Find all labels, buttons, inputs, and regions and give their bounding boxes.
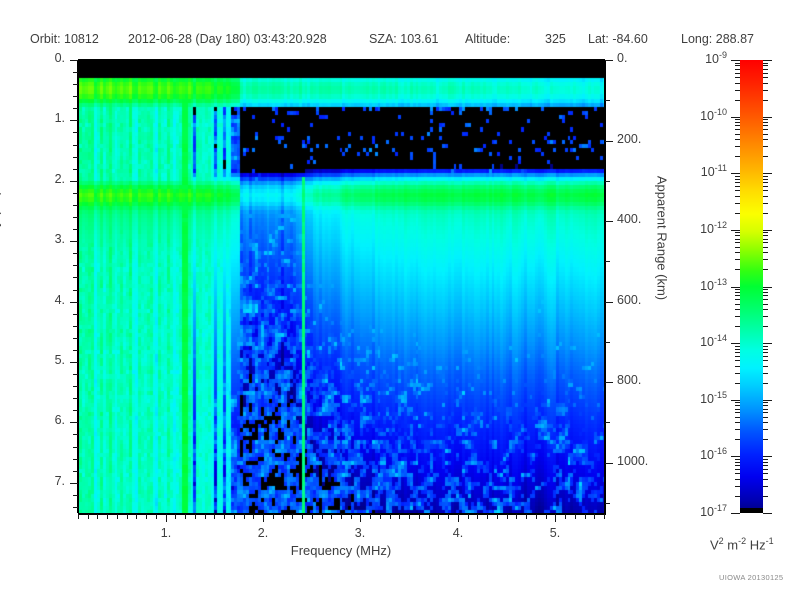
header-orbit: Orbit: 10812	[30, 30, 99, 48]
colorbar-tick-minor-left	[735, 360, 740, 361]
colorbar-tick-minor-right	[763, 65, 768, 66]
header-sza: SZA: 103.61	[369, 30, 439, 48]
colorbar-tick-minor-right	[763, 134, 768, 135]
colorbar-tick-minor-right	[763, 125, 768, 126]
colorbar-tick-minor-right	[763, 356, 768, 357]
colorbar-tick-minor-left	[735, 65, 740, 66]
x-tick-minor	[244, 514, 245, 519]
colorbar-tick-minor-left	[735, 473, 740, 474]
y-tick-minor	[73, 459, 78, 460]
y-tick-major	[70, 483, 78, 484]
y-tick-minor	[73, 290, 78, 291]
header-info-bar: Orbit: 10812 2012-06-28 (Day 180) 03:43:…	[0, 30, 800, 50]
colorbar-tick-major-left	[731, 343, 740, 344]
colorbar-tick-minor-right	[763, 409, 768, 410]
colorbar-tick-minor-right	[763, 439, 768, 440]
colorbar-tick-minor-right	[763, 405, 768, 406]
plot-border-right	[604, 60, 605, 513]
colorbar-tick-minor-right	[763, 473, 768, 474]
credit-watermark: UIOWA 20130125	[719, 573, 783, 582]
y-tick-major	[70, 60, 78, 61]
x-tick-minor	[594, 514, 595, 519]
y2-tick-major	[605, 382, 613, 383]
y2-tick-major	[605, 221, 613, 222]
colorbar-tick-minor-right	[763, 469, 768, 470]
colorbar-tick-major-right	[763, 400, 772, 401]
colorbar-unit-v: V	[710, 537, 719, 552]
x-tick-minor	[575, 514, 576, 519]
y-tick-minor	[73, 96, 78, 97]
y2-tick-major	[605, 302, 613, 303]
colorbar-tick-minor-right	[763, 346, 768, 347]
colorbar-tick-minor-right	[763, 462, 768, 463]
y-tick-major	[70, 120, 78, 121]
colorbar-tick-minor-right	[763, 316, 768, 317]
x-tick-label: 2.	[258, 526, 268, 540]
colorbar-tick-minor-right	[763, 309, 768, 310]
colorbar-tick-minor-left	[735, 259, 740, 260]
colorbar-tick-minor-right	[763, 366, 768, 367]
y-tick-minor	[73, 410, 78, 411]
y-tick-minor	[73, 72, 78, 73]
colorbar-tick-minor-left	[735, 122, 740, 123]
colorbar-tick-minor-left	[735, 429, 740, 430]
x-tick-minor	[341, 514, 342, 519]
y-tick-minor	[73, 434, 78, 435]
x-tick-minor	[351, 514, 352, 519]
colorbar-tick-major-left	[731, 173, 740, 174]
header-altitude-label: Altitude:	[465, 30, 510, 48]
x-tick-minor	[253, 514, 254, 519]
colorbar-tick-minor-right	[763, 203, 768, 204]
x-tick-major	[166, 514, 167, 522]
colorbar-tick-minor-left	[735, 179, 740, 180]
y2-tick-label: 200.	[617, 132, 641, 146]
colorbar-tick-minor-left	[735, 295, 740, 296]
y-tick-minor	[73, 374, 78, 375]
x-tick-label: 5.	[550, 526, 560, 540]
colorbar-tick-minor-right	[763, 196, 768, 197]
colorbar-tick-minor-right	[763, 239, 768, 240]
colorbar-tick-minor-left	[735, 349, 740, 350]
colorbar-tick-minor-left	[735, 232, 740, 233]
colorbar-tick-major-right	[763, 513, 772, 514]
colorbar-floor-swatch	[740, 508, 763, 513]
x-tick-minor	[536, 514, 537, 519]
colorbar-tick-minor-right	[763, 119, 768, 120]
x-tick-minor	[205, 514, 206, 519]
colorbar-tick-minor-right	[763, 247, 768, 248]
colorbar-tick-minor-left	[735, 486, 740, 487]
y-tick-minor	[73, 386, 78, 387]
y-tick-major	[70, 241, 78, 242]
colorbar-tick-minor-right	[763, 412, 768, 413]
x-tick-minor	[526, 514, 527, 519]
y-tick-minor	[73, 471, 78, 472]
y2-tick-major	[605, 463, 613, 464]
colorbar-tick-minor-left	[735, 422, 740, 423]
x-tick-minor	[448, 514, 449, 519]
x-tick-minor	[136, 514, 137, 519]
colorbar-tick-minor-left	[735, 496, 740, 497]
x-tick-minor	[468, 514, 469, 519]
x-tick-minor	[390, 514, 391, 519]
colorbar-tick-minor-right	[763, 156, 768, 157]
colorbar-tick-minor-right	[763, 73, 768, 74]
x-tick-minor	[322, 514, 323, 519]
y-tick-minor	[73, 193, 78, 194]
y2-tick-major	[605, 60, 613, 61]
y-axis-title-left: Time Delay (ms)	[0, 191, 2, 286]
x-tick-minor	[156, 514, 157, 519]
x-tick-minor	[487, 514, 488, 519]
colorbar-gradient	[740, 60, 763, 513]
colorbar-tick-minor-left	[735, 462, 740, 463]
x-tick-major	[360, 514, 361, 522]
colorbar-tick-minor-right	[763, 349, 768, 350]
x-tick-minor	[283, 514, 284, 519]
colorbar-tick-minor-right	[763, 373, 768, 374]
y-tick-minor	[73, 277, 78, 278]
colorbar-tick-minor-right	[763, 182, 768, 183]
colorbar-tick-minor-right	[763, 422, 768, 423]
colorbar-unit-exp-hz: -1	[766, 536, 774, 546]
colorbar-tick-minor-left	[735, 405, 740, 406]
x-tick-minor	[429, 514, 430, 519]
x-tick-minor	[146, 514, 147, 519]
colorbar-tick-minor-left	[735, 316, 740, 317]
colorbar-tick-minor-left	[735, 156, 740, 157]
y-tick-minor	[73, 398, 78, 399]
x-tick-label: 4.	[453, 526, 463, 540]
colorbar-tick-minor-left	[735, 119, 740, 120]
colorbar-tick-major-left	[731, 456, 740, 457]
y-tick-minor	[73, 205, 78, 206]
colorbar-tick-minor-right	[763, 242, 768, 243]
colorbar-tick-minor-left	[735, 242, 740, 243]
y-tick-minor	[73, 157, 78, 158]
colorbar-tick-minor-right	[763, 304, 768, 305]
header-altitude-value: 325	[545, 30, 566, 48]
colorbar-tick-major-left	[731, 117, 740, 118]
colorbar-tick-major-left	[731, 287, 740, 288]
colorbar-tick-minor-right	[763, 326, 768, 327]
colorbar-tick-minor-left	[735, 439, 740, 440]
x-tick-minor	[565, 514, 566, 519]
x-tick-minor	[497, 514, 498, 519]
colorbar-tick-minor-right	[763, 295, 768, 296]
y-tick-minor	[73, 265, 78, 266]
colorbar-tick-minor-left	[735, 383, 740, 384]
colorbar-tick-minor-left	[735, 182, 740, 183]
colorbar-tick-minor-left	[735, 125, 740, 126]
x-tick-minor	[117, 514, 118, 519]
y-tick-minor	[73, 507, 78, 508]
colorbar-tick-minor-left	[735, 77, 740, 78]
y2-tick-minor	[605, 503, 610, 504]
colorbar-tick-minor-left	[735, 90, 740, 91]
colorbar-tick-minor-right	[763, 429, 768, 430]
colorbar-tick-minor-left	[735, 196, 740, 197]
y-tick-minor	[73, 132, 78, 133]
colorbar-tick-minor-left	[735, 356, 740, 357]
colorbar-tick-minor-right	[763, 259, 768, 260]
colorbar-tick-minor-left	[735, 100, 740, 101]
x-tick-minor	[331, 514, 332, 519]
colorbar-tick-minor-left	[735, 83, 740, 84]
colorbar-tick-minor-left	[735, 186, 740, 187]
x-tick-minor	[477, 514, 478, 519]
colorbar-tick-minor-right	[763, 402, 768, 403]
x-tick-minor	[224, 514, 225, 519]
colorbar-tick-minor-right	[763, 496, 768, 497]
colorbar-tick-minor-left	[735, 239, 740, 240]
x-tick-minor	[107, 514, 108, 519]
colorbar-tick-minor-right	[763, 186, 768, 187]
colorbar-tick-minor-left	[735, 269, 740, 270]
colorbar-tick-minor-left	[735, 326, 740, 327]
colorbar-tick-minor-right	[763, 235, 768, 236]
colorbar	[740, 60, 763, 513]
colorbar-tick-minor-right	[763, 269, 768, 270]
colorbar-tick-minor-left	[735, 134, 740, 135]
colorbar-tick-minor-right	[763, 176, 768, 177]
y2-tick-minor	[605, 422, 610, 423]
x-tick-minor	[370, 514, 371, 519]
colorbar-tick-minor-right	[763, 417, 768, 418]
x-tick-minor	[546, 514, 547, 519]
y2-tick-major	[605, 141, 613, 142]
colorbar-tick-major-right	[763, 456, 772, 457]
colorbar-tick-minor-right	[763, 63, 768, 64]
x-tick-minor	[292, 514, 293, 519]
y-axis-title-right: Apparent Range (km)	[655, 176, 670, 300]
x-tick-label: 3.	[355, 526, 365, 540]
colorbar-tick-major-right	[763, 287, 772, 288]
colorbar-tick-minor-left	[735, 402, 740, 403]
y-tick-major	[70, 302, 78, 303]
x-tick-minor	[419, 514, 420, 519]
x-tick-major	[263, 514, 264, 522]
colorbar-tick-major-right	[763, 343, 772, 344]
colorbar-tick-minor-right	[763, 90, 768, 91]
y2-tick-minor	[605, 261, 610, 262]
x-tick-minor	[380, 514, 381, 519]
colorbar-tick-minor-left	[735, 203, 740, 204]
colorbar-tick-minor-left	[735, 139, 740, 140]
colorbar-tick-minor-left	[735, 479, 740, 480]
colorbar-tick-major-left	[731, 60, 740, 61]
colorbar-tick-minor-right	[763, 383, 768, 384]
colorbar-unit-hz: Hz	[746, 537, 766, 552]
colorbar-tick-minor-right	[763, 292, 768, 293]
x-tick-minor	[273, 514, 274, 519]
x-tick-minor	[88, 514, 89, 519]
colorbar-tick-minor-left	[735, 469, 740, 470]
colorbar-tick-minor-right	[763, 122, 768, 123]
colorbar-unit-m: m	[724, 537, 738, 552]
y2-tick-label: 0.	[617, 51, 627, 65]
x-tick-minor	[185, 514, 186, 519]
colorbar-tick-minor-left	[735, 146, 740, 147]
ionogram-heatmap-plot	[78, 60, 606, 515]
x-tick-minor	[312, 514, 313, 519]
colorbar-tick-minor-right	[763, 465, 768, 466]
y-tick-minor	[73, 217, 78, 218]
header-longitude: Long: 288.87	[681, 30, 754, 48]
colorbar-tick-minor-left	[735, 346, 740, 347]
colorbar-tick-major-right	[763, 117, 772, 118]
colorbar-tick-major-left	[731, 400, 740, 401]
colorbar-tick-minor-left	[735, 373, 740, 374]
colorbar-tick-minor-left	[735, 366, 740, 367]
colorbar-tick-minor-left	[735, 176, 740, 177]
colorbar-tick-minor-right	[763, 190, 768, 191]
colorbar-tick-minor-right	[763, 213, 768, 214]
y-tick-minor	[73, 447, 78, 448]
colorbar-tick-minor-right	[763, 486, 768, 487]
x-tick-minor	[585, 514, 586, 519]
colorbar-tick-minor-right	[763, 69, 768, 70]
colorbar-tick-minor-right	[763, 146, 768, 147]
plot-border-top	[78, 59, 605, 60]
colorbar-tick-minor-right	[763, 83, 768, 84]
colorbar-tick-minor-left	[735, 190, 740, 191]
x-tick-minor	[516, 514, 517, 519]
colorbar-unit-exp-m: -2	[738, 536, 746, 546]
y-tick-major	[70, 362, 78, 363]
plot-border-left	[77, 60, 78, 513]
x-tick-minor	[214, 514, 215, 519]
x-tick-minor	[302, 514, 303, 519]
colorbar-tick-major-right	[763, 173, 772, 174]
colorbar-tick-major-left	[731, 513, 740, 514]
x-tick-minor	[78, 514, 79, 519]
x-tick-major	[458, 514, 459, 522]
colorbar-tick-minor-right	[763, 252, 768, 253]
colorbar-tick-minor-left	[735, 412, 740, 413]
x-tick-minor	[409, 514, 410, 519]
colorbar-tick-minor-right	[763, 459, 768, 460]
colorbar-tick-minor-right	[763, 179, 768, 180]
colorbar-tick-minor-left	[735, 289, 740, 290]
colorbar-tick-minor-left	[735, 69, 740, 70]
y-tick-minor	[73, 108, 78, 109]
y-tick-minor	[73, 495, 78, 496]
y2-tick-minor	[605, 100, 610, 101]
y-tick-minor	[73, 145, 78, 146]
y2-tick-minor	[605, 342, 610, 343]
colorbar-tick-minor-right	[763, 100, 768, 101]
colorbar-tick-minor-left	[735, 309, 740, 310]
colorbar-tick-minor-right	[763, 77, 768, 78]
colorbar-tick-minor-right	[763, 289, 768, 290]
colorbar-tick-minor-left	[735, 213, 740, 214]
colorbar-tick-minor-right	[763, 129, 768, 130]
x-tick-minor	[438, 514, 439, 519]
colorbar-tick-minor-left	[735, 247, 740, 248]
colorbar-tick-minor-left	[735, 235, 740, 236]
colorbar-tick-minor-right	[763, 232, 768, 233]
colorbar-unit-label: V2 m-2 Hz-1	[710, 536, 774, 552]
colorbar-tick-major-right	[763, 230, 772, 231]
y-tick-minor	[73, 314, 78, 315]
colorbar-tick-minor-right	[763, 139, 768, 140]
colorbar-tick-minor-left	[735, 417, 740, 418]
y-tick-minor	[73, 253, 78, 254]
header-datetime: 2012-06-28 (Day 180) 03:43:20.928	[128, 30, 327, 48]
x-tick-major	[555, 514, 556, 522]
y-tick-minor	[73, 326, 78, 327]
x-tick-minor	[97, 514, 98, 519]
y-tick-minor	[73, 338, 78, 339]
x-tick-label: 1.	[161, 526, 171, 540]
heatmap-canvas	[79, 61, 605, 514]
colorbar-tick-minor-left	[735, 304, 740, 305]
y-tick-minor	[73, 169, 78, 170]
x-tick-minor	[195, 514, 196, 519]
colorbar-tick-minor-right	[763, 299, 768, 300]
y2-tick-label: 800.	[617, 373, 641, 387]
colorbar-tick-minor-left	[735, 63, 740, 64]
y-tick-minor	[73, 350, 78, 351]
colorbar-tick-minor-right	[763, 352, 768, 353]
y-tick-major	[70, 422, 78, 423]
colorbar-tick-minor-right	[763, 360, 768, 361]
colorbar-tick-major-left	[731, 230, 740, 231]
colorbar-tick-minor-left	[735, 252, 740, 253]
colorbar-tick-minor-left	[735, 409, 740, 410]
y-tick-minor	[73, 229, 78, 230]
colorbar-tick-minor-left	[735, 459, 740, 460]
colorbar-tick-minor-left	[735, 129, 740, 130]
y-tick-minor	[73, 84, 78, 85]
x-tick-minor	[234, 514, 235, 519]
colorbar-tick-minor-left	[735, 352, 740, 353]
y2-tick-label: 600.	[617, 293, 641, 307]
colorbar-tick-minor-right	[763, 479, 768, 480]
y2-tick-label: 400.	[617, 212, 641, 226]
x-tick-minor	[175, 514, 176, 519]
header-latitude: Lat: -84.60	[588, 30, 648, 48]
colorbar-tick-major-right	[763, 60, 772, 61]
colorbar-tick-minor-left	[735, 292, 740, 293]
colorbar-tick-minor-left	[735, 73, 740, 74]
colorbar-tick-minor-left	[735, 465, 740, 466]
colorbar-tick-minor-left	[735, 299, 740, 300]
x-tick-minor	[399, 514, 400, 519]
x-tick-minor	[127, 514, 128, 519]
x-tick-minor	[507, 514, 508, 519]
x-tick-minor	[604, 514, 605, 519]
y2-tick-minor	[605, 181, 610, 182]
y2-tick-label: 1000.	[617, 454, 648, 468]
y-tick-major	[70, 181, 78, 182]
x-axis-title: Frequency (MHz)	[291, 543, 391, 558]
